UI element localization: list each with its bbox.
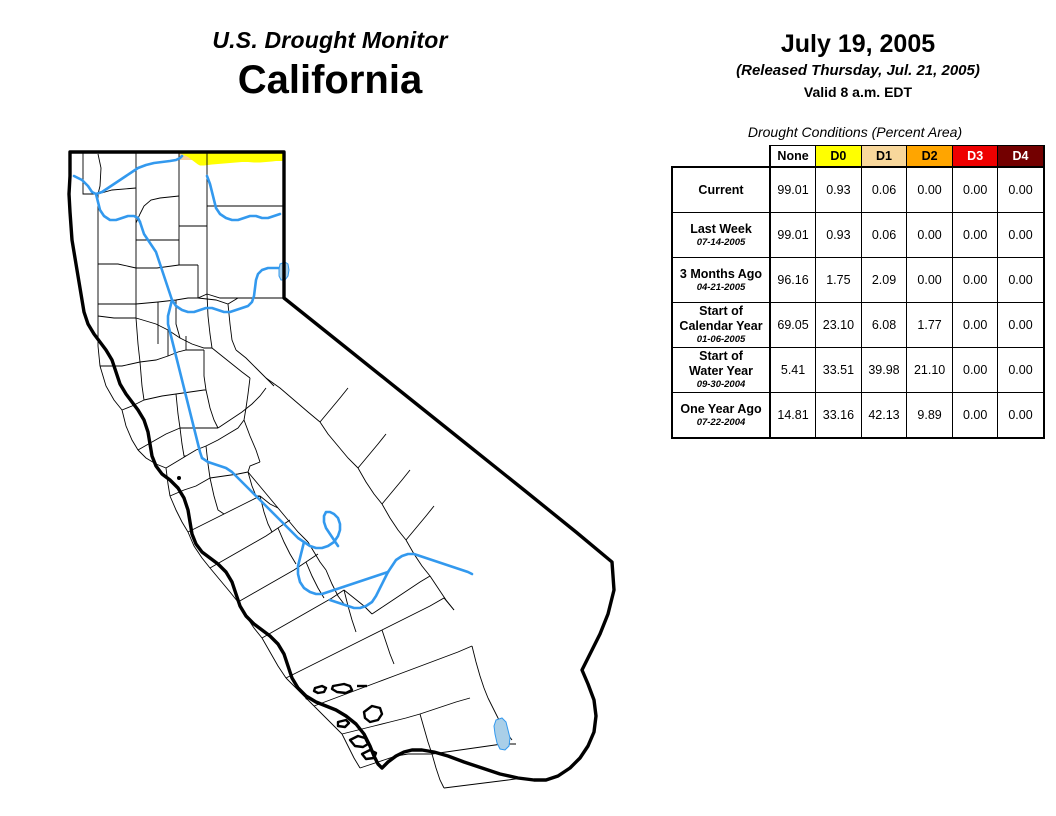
map-title-block: U.S. Drought Monitor California (0, 28, 660, 104)
table-body: Current99.010.930.060.000.000.00Last Wee… (672, 167, 1044, 438)
value-cell-d2: 0.00 (907, 258, 953, 303)
table-row: Start ofCalendar Year01-06-200569.0523.1… (672, 303, 1044, 348)
row-label-cell: Start ofWater Year09-30-2004 (672, 348, 770, 393)
rivers-layer (74, 156, 472, 608)
table-corner-cell (672, 146, 770, 168)
row-label-date: 09-30-2004 (677, 379, 765, 390)
value-cell-d3: 0.00 (952, 167, 998, 213)
value-cell-d4: 0.00 (998, 303, 1044, 348)
value-cell-none: 69.05 (770, 303, 816, 348)
row-label-cell: One Year Ago07-22-2004 (672, 393, 770, 439)
value-cell-d0: 1.75 (816, 258, 862, 303)
value-cell-d4: 0.00 (998, 258, 1044, 303)
value-cell-none: 96.16 (770, 258, 816, 303)
value-cell-d4: 0.00 (998, 167, 1044, 213)
map-panel: U.S. Drought Monitor California (0, 0, 660, 816)
column-header-d3: D3 (952, 146, 998, 168)
row-label-title: Start ofWater Year (677, 349, 765, 378)
column-header-none: None (770, 146, 816, 168)
row-label-cell: 3 Months Ago04-21-2005 (672, 258, 770, 303)
row-label-title: Last Week (677, 222, 765, 236)
date-block: July 19, 2005 (Released Thursday, Jul. 2… (660, 30, 1056, 101)
value-cell-d2: 21.10 (907, 348, 953, 393)
value-cell-d1: 6.08 (861, 303, 907, 348)
drought-area-d0 (179, 153, 284, 166)
value-cell-d1: 0.06 (861, 167, 907, 213)
table-header-row: None D0 D1 D2 D3 D4 (672, 146, 1044, 168)
value-cell-d0: 23.10 (816, 303, 862, 348)
row-label-title: Start ofCalendar Year (677, 304, 765, 333)
row-label-cell: Current (672, 167, 770, 213)
release-date: (Released Thursday, Jul. 21, 2005) (660, 62, 1056, 80)
row-label-date: 01-06-2005 (677, 334, 765, 345)
value-cell-d3: 0.00 (952, 303, 998, 348)
row-label-title: 3 Months Ago (677, 267, 765, 281)
row-label-date: 07-22-2004 (677, 417, 765, 428)
value-cell-d4: 0.00 (998, 348, 1044, 393)
value-cell-d1: 39.98 (861, 348, 907, 393)
table-row: Current99.010.930.060.000.000.00 (672, 167, 1044, 213)
california-map-svg (52, 128, 652, 800)
value-cell-d2: 1.77 (907, 303, 953, 348)
valid-time: Valid 8 a.m. EDT (660, 84, 1056, 101)
value-cell-d4: 0.00 (998, 393, 1044, 439)
value-cell-d4: 0.00 (998, 213, 1044, 258)
value-cell-d3: 0.00 (952, 393, 998, 439)
value-cell-d1: 0.06 (861, 213, 907, 258)
value-cell-d3: 0.00 (952, 348, 998, 393)
value-cell-d2: 0.00 (907, 213, 953, 258)
value-cell-d0: 0.93 (816, 167, 862, 213)
map-supertitle: U.S. Drought Monitor (0, 28, 660, 52)
california-drought-map[interactable] (52, 128, 652, 800)
table-row: Last Week07-14-200599.010.930.060.000.00… (672, 213, 1044, 258)
table-row: One Year Ago07-22-200414.8133.1642.139.8… (672, 393, 1044, 439)
row-label-title: One Year Ago (677, 402, 765, 416)
value-cell-none: 14.81 (770, 393, 816, 439)
column-header-d4: D4 (998, 146, 1044, 168)
row-label-cell: Start ofCalendar Year01-06-2005 (672, 303, 770, 348)
value-cell-d3: 0.00 (952, 213, 998, 258)
table-row: Start ofWater Year09-30-20045.4133.5139.… (672, 348, 1044, 393)
row-label-cell: Last Week07-14-2005 (672, 213, 770, 258)
value-cell-d0: 33.16 (816, 393, 862, 439)
report-date: July 19, 2005 (660, 30, 1056, 59)
page-title: California (0, 56, 660, 104)
drought-conditions-table: None D0 D1 D2 D3 D4 Current99.010.930.06… (671, 145, 1045, 439)
value-cell-d1: 42.13 (861, 393, 907, 439)
value-cell-d0: 0.93 (816, 213, 862, 258)
value-cell-none: 99.01 (770, 213, 816, 258)
value-cell-d2: 0.00 (907, 167, 953, 213)
info-panel: July 19, 2005 (Released Thursday, Jul. 2… (660, 0, 1056, 816)
row-label-date: 04-21-2005 (677, 282, 765, 293)
column-header-d0: D0 (816, 146, 862, 168)
value-cell-none: 5.41 (770, 348, 816, 393)
value-cell-none: 99.01 (770, 167, 816, 213)
row-label-date: 07-14-2005 (677, 237, 765, 248)
value-cell-d0: 33.51 (816, 348, 862, 393)
value-cell-d1: 2.09 (861, 258, 907, 303)
value-cell-d3: 0.00 (952, 258, 998, 303)
lakes-layer (279, 262, 510, 750)
table-row: 3 Months Ago04-21-200596.161.752.090.000… (672, 258, 1044, 303)
row-label-title: Current (677, 183, 765, 197)
column-header-d2: D2 (907, 146, 953, 168)
column-header-d1: D1 (861, 146, 907, 168)
value-cell-d2: 9.89 (907, 393, 953, 439)
table-caption: Drought Conditions (Percent Area) (660, 124, 1050, 140)
